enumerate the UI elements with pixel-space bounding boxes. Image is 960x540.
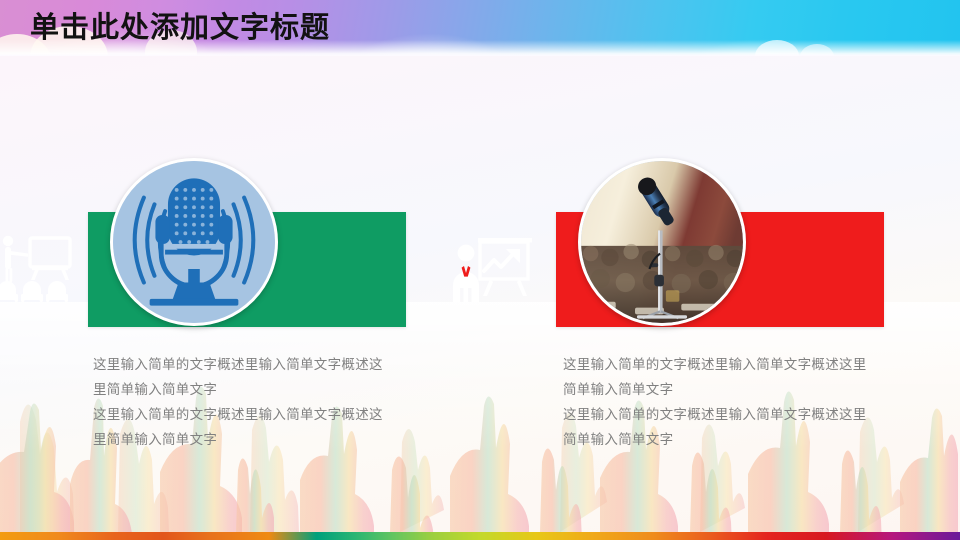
description-line: 这里输入简单的文字概述里输入简单文字概述这里	[563, 352, 893, 377]
description-line: 这里输入简单的文字概述里输入简单文字概述这	[93, 352, 413, 377]
conference-microphone-photo	[578, 158, 746, 326]
presentation-audience-icon	[0, 234, 72, 306]
card-right-description: 这里输入简单的文字概述里输入简单文字概述这里 简单输入简单文字 这里输入简单的文…	[563, 352, 893, 452]
description-line: 里简单输入简单文字	[93, 427, 413, 452]
page-title: 单击此处添加文字标题	[30, 11, 330, 45]
description-line: 这里输入简单的文字概述里输入简单文字概述这里	[563, 402, 893, 427]
description-line: 里简单输入简单文字	[93, 377, 413, 402]
businessman-chart-board-icon	[450, 236, 534, 306]
cloud-blob-icon	[755, 40, 799, 56]
description-line: 这里输入简单的文字概述里输入简单文字概述这	[93, 402, 413, 427]
vintage-microphone-illustration	[110, 158, 278, 326]
description-line: 简单输入简单文字	[563, 427, 893, 452]
presentation-slide: 单击此处添加文字标题	[0, 0, 960, 540]
card-left-description: 这里输入简单的文字概述里输入简单文字概述这 里简单输入简单文字 这里输入简单的文…	[93, 352, 413, 452]
description-line: 简单输入简单文字	[563, 377, 893, 402]
cloud-blob-icon	[800, 44, 834, 56]
bottom-color-stripe	[0, 532, 960, 540]
